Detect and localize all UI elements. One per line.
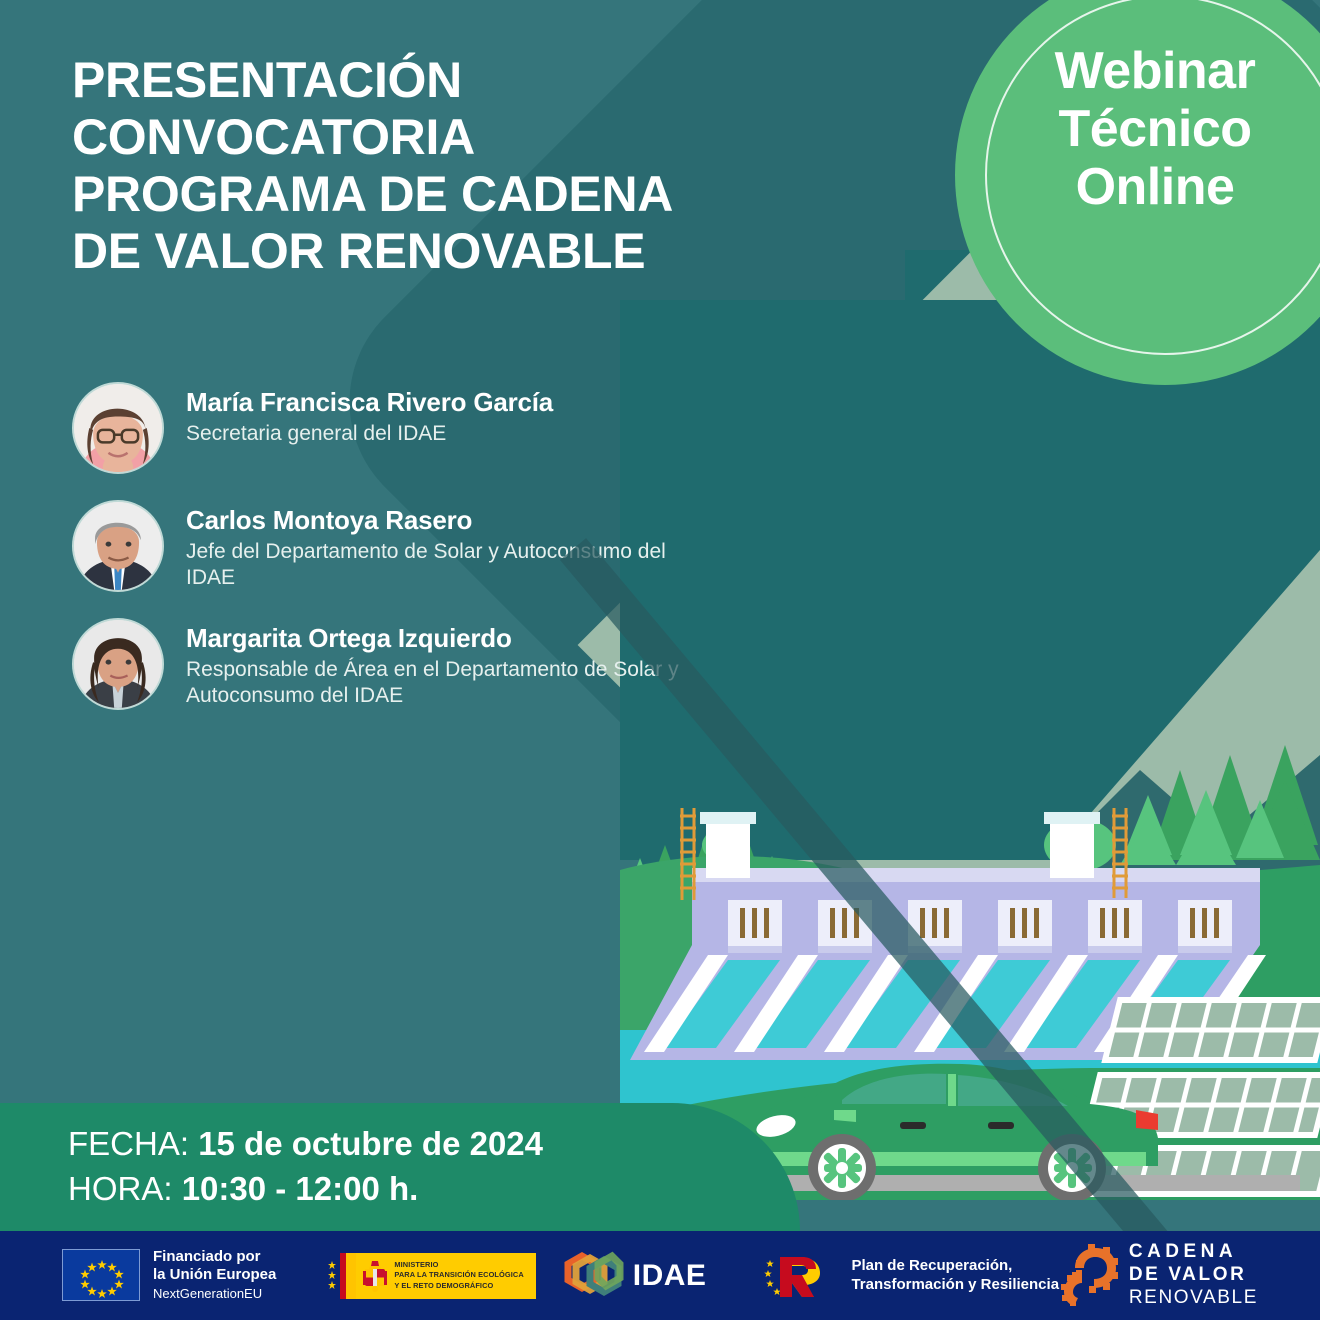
speaker-role: Secretaria general del IDAE [186,421,553,447]
avatar [72,382,164,474]
ministry-text: MINISTERIO PARA LA TRANSICIÓN ECOLÓGICA … [394,1260,523,1291]
page-title: PRESENTACIÓN CONVOCATORIA PROGRAMA DE CA… [72,52,892,280]
footer-logo-bar: Financiado por la Unión Europea NextGene… [0,1231,1320,1320]
eu-funding-logo: Financiado por la Unión Europea NextGene… [62,1248,276,1302]
cadena-valor-text: CADENA DE VALOR RENOVABLE [1129,1241,1258,1309]
badge-line-1: Webinar [985,42,1320,100]
cadena-valor-logo: CADENA DE VALOR RENOVABLE [1060,1241,1258,1309]
ministry-logo: MINISTERIO PARA LA TRANSICIÓN ECOLÓGICA … [326,1253,535,1299]
avatar-portrait-2 [74,502,162,590]
date-label: FECHA: [68,1125,189,1162]
eu-line-1: Financiado por [153,1248,276,1266]
speaker-role: Jefe del Departamento de Solar y Autocon… [186,539,712,592]
eu-line-2: la Unión Europea [153,1266,276,1284]
ministry-line-1: MINISTERIO [394,1260,523,1270]
recovery-plan-line-1: Plan de Recuperación, [851,1257,1059,1276]
cadena-valor-line-2: DE VALOR [1129,1264,1258,1287]
speaker-item: Margarita Ortega Izquierdo Responsable d… [72,618,712,710]
cadena-valor-line-3: RENOVABLE [1129,1287,1258,1310]
spain-flag-icon [326,1253,356,1299]
ministry-line-2: PARA LA TRANSICIÓN ECOLÓGICA [394,1270,523,1280]
badge-line-2: Técnico [985,100,1320,158]
ministry-yellow-panel: MINISTERIO PARA LA TRANSICIÓN ECOLÓGICA … [356,1253,535,1299]
title-line-3: PROGRAMA DE CADENA [72,166,892,223]
spain-coat-of-arms-icon [362,1259,388,1293]
idae-wordmark: IDAE [633,1259,707,1293]
ministry-line-3: Y EL RETO DEMOGRÁFICO [394,1281,523,1291]
eu-text: Financiado por la Unión Europea NextGene… [153,1248,276,1302]
avatar-portrait-3 [74,620,162,708]
time-label: HORA: [68,1170,173,1207]
webinar-poster: Webinar Técnico Online PRESENTACIÓN CONV… [0,0,1320,1320]
recovery-plan-line-2: Transformación y Resiliencia [851,1276,1059,1295]
badge-line-3: Online [985,158,1320,216]
eu-line-3: NextGenerationEU [153,1286,276,1303]
idae-logo: IDAE [562,1250,707,1302]
title-line-4: DE VALOR RENOVABLE [72,223,892,280]
speaker-name: Carlos Montoya Rasero [186,506,712,536]
avatar-portrait-1 [74,384,162,472]
date-value: 15 de octubre de 2024 [198,1125,543,1162]
recovery-plan-logo: Plan de Recuperación, Transformación y R… [762,1249,1059,1303]
time-row: HORA: 10:30 - 12:00 h. [68,1167,543,1212]
date-row: FECHA: 15 de octubre de 2024 [68,1122,543,1167]
prtr-mark-icon [762,1249,840,1303]
recovery-plan-text: Plan de Recuperación, Transformación y R… [851,1257,1059,1295]
speaker-text: María Francisca Rivero García Secretaria… [186,382,553,447]
cadena-valor-mark-icon [1060,1244,1118,1306]
speaker-text: Carlos Montoya Rasero Jefe del Departame… [186,500,712,591]
idae-mark-icon [562,1250,624,1302]
avatar [72,618,164,710]
speaker-name: María Francisca Rivero García [186,388,553,418]
cadena-valor-line-1: CADENA [1129,1241,1258,1264]
title-line-1: PRESENTACIÓN [72,52,892,109]
title-line-2: CONVOCATORIA [72,109,892,166]
eu-flag-icon [62,1249,140,1301]
avatar [72,500,164,592]
date-time-text: FECHA: 15 de octubre de 2024 HORA: 10:30… [68,1122,543,1212]
speaker-role: Responsable de Área en el Departamento d… [186,657,712,710]
speaker-item: María Francisca Rivero García Secretaria… [72,382,712,474]
eu-stars-icon [63,1250,141,1302]
speakers-list: María Francisca Rivero García Secretaria… [72,382,712,736]
time-value: 10:30 - 12:00 h. [182,1170,419,1207]
webinar-badge-text: Webinar Técnico Online [985,42,1320,217]
